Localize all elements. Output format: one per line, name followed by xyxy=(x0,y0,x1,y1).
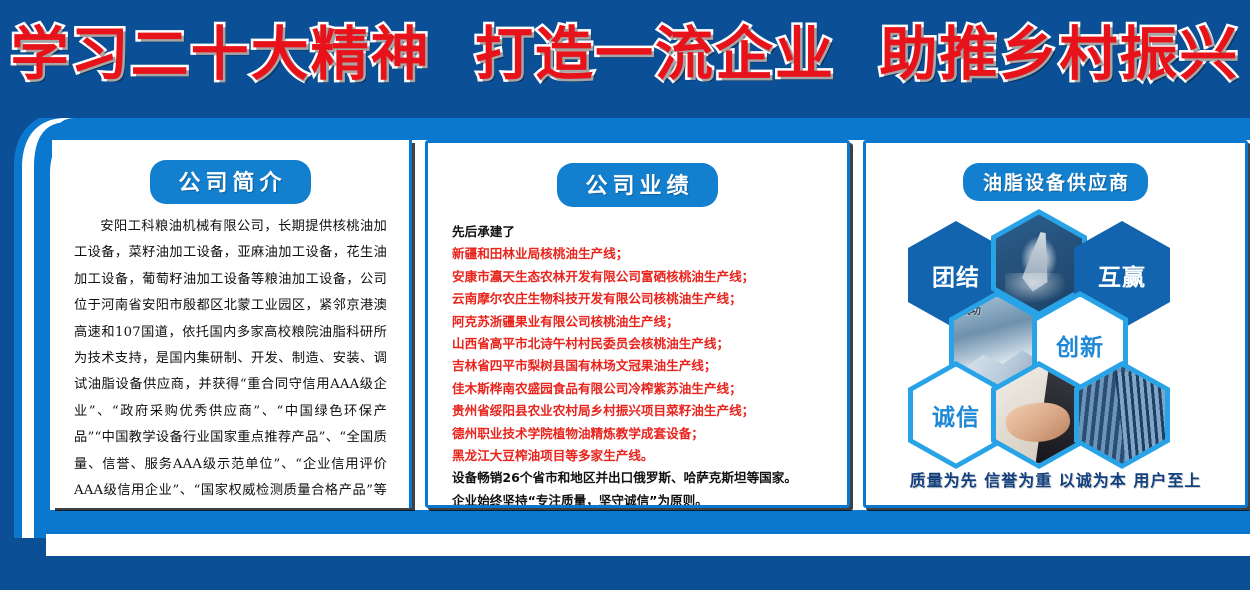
performance-note: 企业始终坚持“专注质量，坚守诚信”为原则。 xyxy=(452,490,827,505)
performance-item: 山西省高平市北诗午村村民委员会核桃油生产线； xyxy=(452,333,827,355)
performance-item: 贵州省绥阳县农业农村局乡村振兴项目菜籽油生产线； xyxy=(452,400,827,422)
hexagon-label: 互赢 xyxy=(1098,258,1146,292)
performance-item: 佳木斯桦南农盛园食品有限公司冷榨紫苏油生产线； xyxy=(452,378,827,400)
frame-top-blue-bar xyxy=(52,118,1250,140)
handshake-photo xyxy=(996,367,1082,464)
panels-row: 公司简介 安阳工科粮油机械有限公司，长期提供核桃油加工设备，菜籽油加工设备，亚麻… xyxy=(52,140,1250,510)
frame-bottom-white-band xyxy=(46,534,1250,556)
panel3-title-pill: 油脂设备供应商 xyxy=(963,163,1148,201)
hexagon-label: 团结 xyxy=(932,258,980,292)
skyscraper-photo-frame xyxy=(1079,367,1165,464)
handshake-photo-frame xyxy=(996,367,1082,464)
aircraft-carrier-photo xyxy=(996,215,1082,312)
frame-bottom-blue-band xyxy=(34,510,1250,534)
hexagon-label: 诚信 xyxy=(913,367,999,464)
panel-company-performance: 公司业绩 先后承建了新疆和田林业局核桃油生产线；安康市瀛天生态农林开发有限公司富… xyxy=(425,140,850,508)
banner-title: 学习二十大精神 打造一流企业 助推乡村振兴 xyxy=(11,25,1240,83)
panel2-body-list: 先后承建了新疆和田林业局核桃油生产线；安康市瀛天生态农林开发有限公司富硒核桃油生… xyxy=(444,217,831,505)
performance-item: 黑龙江大豆榨油项目等多家生产线。 xyxy=(452,445,827,467)
hexagon-cluster: 团结互赢成功创新诚信 xyxy=(882,211,1229,463)
panel1-body-text: 安阳工科粮油机械有限公司，长期提供核桃油加工设备，菜籽油加工设备，亚麻油加工设备… xyxy=(68,214,393,508)
performance-item: 安康市瀛天生态农林开发有限公司富硒核桃油生产线； xyxy=(452,266,827,288)
panel-supplier-values: 油脂设备供应商 团结互赢成功创新诚信 质量为先 信誉为重 以诚为本 用户至上 xyxy=(863,140,1248,508)
performance-item: 云南摩尔农庄生物科技开发有限公司核桃油生产线； xyxy=(452,288,827,310)
header-banner: 学习二十大精神 打造一流企业 助推乡村振兴 xyxy=(0,0,1250,108)
panel1-title-pill: 公司简介 xyxy=(150,160,310,204)
performance-item: 阿克苏浙疆果业有限公司核桃油生产线； xyxy=(452,311,827,333)
skyscraper-photo xyxy=(1079,367,1165,464)
performance-item: 吉林省四平市梨树县国有林场文冠果油生产线； xyxy=(452,355,827,377)
performance-lead: 先后承建了 xyxy=(452,221,827,243)
performance-item: 新疆和田林业局核桃油生产线； xyxy=(452,243,827,265)
performance-note: 设备畅销26个省市和地区并出口俄罗斯、哈萨克斯坦等国家。 xyxy=(452,467,827,489)
panel-company-intro: 公司简介 安阳工科粮油机械有限公司，长期提供核桃油加工设备，菜籽油加工设备，亚麻… xyxy=(52,140,412,508)
panel3-slogan: 质量为先 信誉为重 以诚为本 用户至上 xyxy=(866,467,1245,491)
panel2-title-pill: 公司业绩 xyxy=(557,163,717,207)
aircraft-carrier-photo-frame xyxy=(996,215,1082,312)
performance-item: 德州职业技术学院植物油精炼教学成套设备； xyxy=(452,423,827,445)
